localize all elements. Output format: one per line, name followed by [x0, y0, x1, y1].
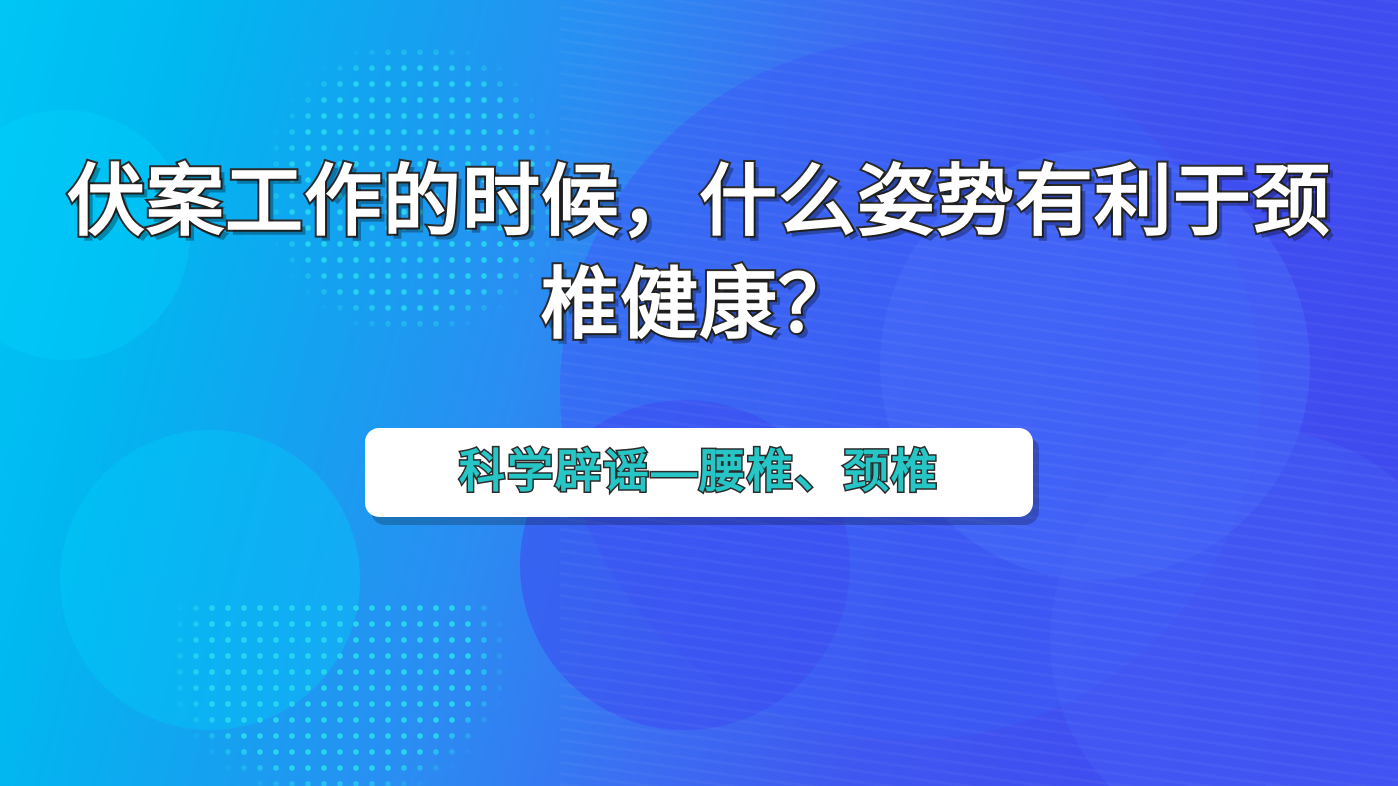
title-line-1: 伏案工作的时候，什么姿势有利于颈: [0, 150, 1398, 253]
decorative-circle-center: [560, 40, 1260, 740]
slide-title: 伏案工作的时候，什么姿势有利于颈 椎健康？: [0, 150, 1398, 356]
subtitle-text: 科学辟谣—腰椎、颈椎: [419, 444, 979, 499]
slide-canvas: 伏案工作的时候，什么姿势有利于颈 椎健康？ 科学辟谣—腰椎、颈椎: [0, 0, 1398, 786]
decorative-stripes: [560, 0, 1398, 786]
subtitle-plaque-wrap: 科学辟谣—腰椎、颈椎: [0, 428, 1398, 517]
subtitle-plaque: 科学辟谣—腰椎、颈椎: [365, 428, 1033, 517]
title-line-2: 椎健康？: [0, 253, 1398, 356]
halftone-dots-bottom-icon: [172, 600, 502, 786]
